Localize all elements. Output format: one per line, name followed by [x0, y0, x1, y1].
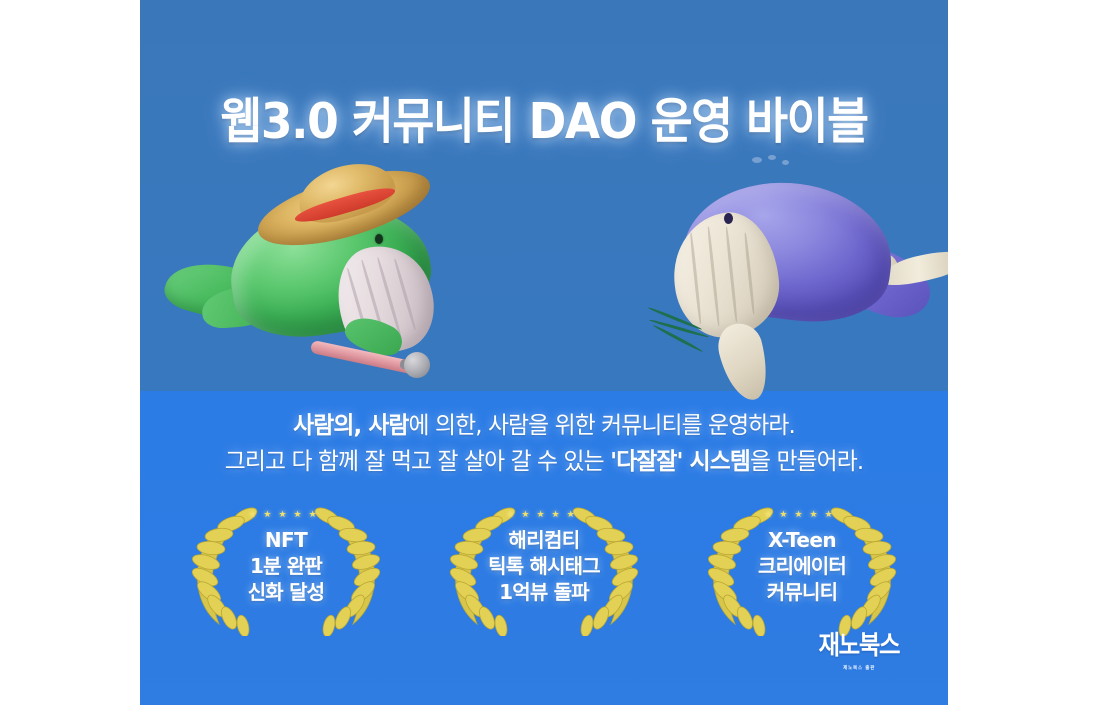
badge-line-1: NFT — [181, 528, 391, 552]
badge-text-block: X-Teen 크리에이터 커뮤니티 — [697, 528, 907, 604]
publisher-tagline: 제노북스 출판 — [814, 665, 904, 671]
tagline-line-1: 사람의, 사람에 의한, 사람을 위한 커뮤니티를 운영하라. — [152, 408, 936, 444]
badge-line-2: 1분 완판 — [181, 554, 391, 578]
badge-line-3: 1억뷰 돌파 — [439, 580, 649, 604]
tagline-line-2-post: 을 만들어라. — [750, 447, 863, 475]
tagline-line-1-bold: 사람의, 사람 — [293, 411, 408, 439]
microphone-head-icon — [404, 352, 430, 378]
achievement-badge-tiktok: ★★★★★ 해리컴티 틱톡 해시태그 1억뷰 돌파 — [439, 500, 649, 636]
tagline-line-2: 그리고 다 함께 잘 먹고 잘 살아 갈 수 있는 '다잘잘' 시스템을 만들어… — [152, 444, 936, 480]
purple-whale-eye — [724, 213, 733, 224]
purple-whale-fin — [713, 319, 775, 405]
publisher-name: 재노북스 — [819, 625, 900, 662]
tagline-line-1-rest: 에 의한, 사람을 위한 커뮤니티를 운영하라. — [409, 411, 795, 439]
green-whale-character — [160, 155, 470, 405]
badge-stars: ★★★★★ — [181, 510, 391, 520]
purple-whale-character — [640, 155, 948, 405]
achievement-badge-nft: ★★★★★ NFT 1분 완판 신화 달성 — [181, 500, 391, 636]
badge-line-1: X-Teen — [697, 528, 907, 552]
book-cover-poster: 웹3.0 커뮤니티 DAO 운영 바이블 — [140, 0, 948, 705]
badge-stars: ★★★★★ — [697, 510, 907, 520]
poster-title: 웹3.0 커뮤니티 DAO 운영 바이블 — [168, 82, 919, 153]
badge-line-3: 커뮤니티 — [697, 580, 907, 604]
badge-line-3: 신화 달성 — [181, 580, 391, 604]
achievement-badge-xteen: ★★★★★ X-Teen 크리에이터 커뮤니티 — [697, 500, 907, 636]
tagline-line-2-pre: 그리고 다 함께 잘 먹고 잘 살아 갈 수 있는 — [225, 447, 610, 475]
badge-text-block: NFT 1분 완판 신화 달성 — [181, 528, 391, 604]
achievement-badge-row: ★★★★★ NFT 1분 완판 신화 달성 — [140, 500, 948, 640]
badge-text-block: 해리컴티 틱톡 해시태그 1억뷰 돌파 — [439, 528, 649, 604]
badge-line-2: 틱톡 해시태그 — [439, 554, 649, 578]
badge-stars: ★★★★★ — [439, 510, 649, 520]
tagline-line-2-bold: '다잘잘' 시스템 — [610, 447, 750, 475]
badge-line-2: 크리에이터 — [697, 554, 907, 578]
tagline-block: 사람의, 사람에 의한, 사람을 위한 커뮤니티를 운영하라. 그리고 다 함께… — [140, 408, 948, 479]
poster-canvas: 웹3.0 커뮤니티 DAO 운영 바이블 — [0, 0, 1100, 705]
green-whale-eye — [375, 234, 383, 244]
badge-line-1: 해리컴티 — [439, 528, 649, 552]
publisher-logo: 재노북스 제노북스 출판 — [814, 625, 904, 671]
